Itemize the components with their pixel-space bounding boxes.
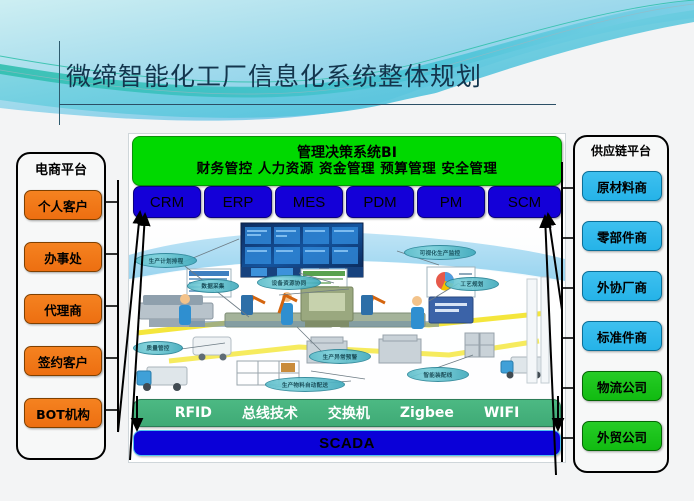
callout-production-scheduling: 生产计划排程 <box>135 253 197 268</box>
right-chip-foreign-trade-company[interactable]: 外贸公司 <box>582 421 662 451</box>
callout-visual-monitoring: 可视化生产监控 <box>404 245 476 260</box>
net-item-switch: 交换机 <box>328 403 370 423</box>
app-box-scm[interactable]: SCM <box>488 186 561 218</box>
left-chip-office[interactable]: 办事处 <box>24 242 102 272</box>
slide-banner: 微缔智能化工厂信息化系统整体规划 <box>0 0 694 125</box>
right-panel-supply-chain: 供应链平台 原材料商 零部件商 外协厂商 标准件商 物流公司 外贸公司 <box>573 135 669 473</box>
left-chip-bot-org[interactable]: BOT机构 <box>24 398 102 428</box>
right-chip-logistics-company[interactable]: 物流公司 <box>582 371 662 401</box>
page-title: 微缔智能化工厂信息化系统整体规划 <box>66 57 482 93</box>
net-item-bus: 总线技术 <box>242 403 298 423</box>
callout-quality-control: 质量管控 <box>133 341 183 355</box>
bi-banner[interactable]: 管理决策系统BI 财务管控 人力资源 资金管理 预算管理 安全管理 <box>132 136 562 186</box>
callout-data-acquisition: 数据采集 <box>187 279 239 293</box>
app-box-erp[interactable]: ERP <box>204 186 272 218</box>
left-chip-contract-customer[interactable]: 签约客户 <box>24 346 102 376</box>
network-technology-bar[interactable]: RFID 总线技术 交换机 Zigbee WIFI <box>133 399 561 427</box>
title-vertical-rule <box>59 41 60 125</box>
callout-auto-material-delivery: 生产物料自动配送 <box>265 377 345 392</box>
left-chip-individual-customer[interactable]: 个人客户 <box>24 190 102 220</box>
left-chip-agent[interactable]: 代理商 <box>24 294 102 324</box>
right-chip-parts-supplier[interactable]: 零部件商 <box>582 221 662 251</box>
net-item-rfid: RFID <box>175 405 212 421</box>
right-panel-title: 供应链平台 <box>575 142 667 159</box>
callout-abnormality-alert: 生产异常预警 <box>309 349 371 364</box>
app-box-mes[interactable]: MES <box>275 186 343 218</box>
callout-equipment-collaboration: 设备资源协同 <box>257 275 321 290</box>
net-item-zigbee: Zigbee <box>400 405 454 421</box>
callout-process-planning: 工艺规划 <box>445 277 499 291</box>
left-panel-ecommerce: 电商平台 个人客户 办事处 代理商 签约客户 BOT机构 <box>16 152 106 460</box>
bi-subtitle: 财务管控 人力资源 资金管理 预算管理 安全管理 <box>197 162 498 176</box>
callout-smart-assembly: 智能装配线 <box>407 367 469 382</box>
app-box-pdm[interactable]: PDM <box>346 186 414 218</box>
right-chip-standard-parts-supplier[interactable]: 标准件商 <box>582 321 662 351</box>
right-chip-raw-material-supplier[interactable]: 原材料商 <box>582 171 662 201</box>
bi-title: 管理决策系统BI <box>297 146 397 161</box>
net-item-wifi: WIFI <box>484 405 519 421</box>
factory-illustration: 生产计划排程 设备资源协同 可视化生产监控 数据采集 工艺规划 质量管控 生产异… <box>129 221 565 397</box>
right-chip-outsourcing-manufacturer[interactable]: 外协厂商 <box>582 271 662 301</box>
left-panel-title: 电商平台 <box>18 159 104 178</box>
app-box-crm[interactable]: CRM <box>133 186 201 218</box>
scada-bar[interactable]: SCADA <box>133 430 561 456</box>
slide-canvas: 微缔智能化工厂信息化系统整体规划 <box>0 0 694 501</box>
title-horizontal-rule <box>59 104 556 105</box>
app-box-pm[interactable]: PM <box>417 186 485 218</box>
